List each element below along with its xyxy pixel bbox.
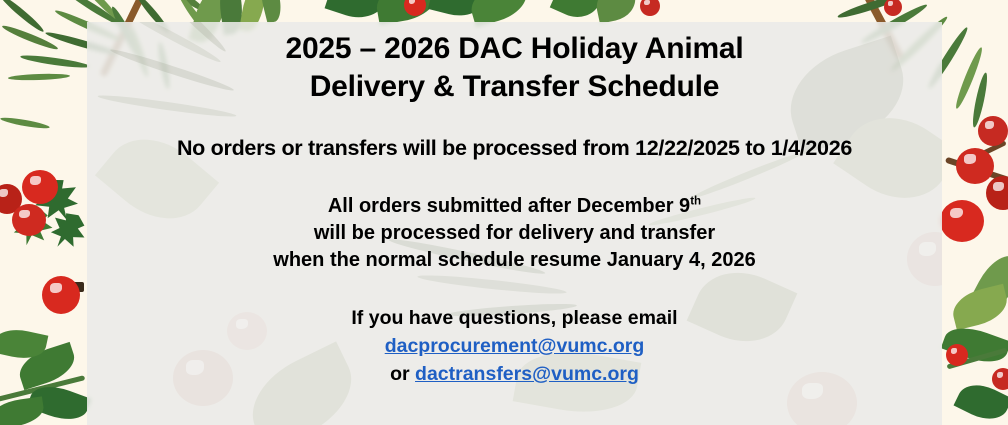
- red-berry: [946, 344, 968, 366]
- red-berry: [22, 170, 58, 204]
- red-berry: [12, 204, 46, 236]
- red-berry: [940, 200, 984, 242]
- contact-section: If you have questions, please email dacp…: [87, 304, 942, 388]
- ordinal-suffix: th: [690, 194, 701, 207]
- red-berry: [986, 176, 1008, 210]
- red-berry: [884, 0, 902, 16]
- pine-needle: [0, 116, 50, 131]
- holiday-schedule-poster: 2025 – 2026 DAC Holiday Animal Delivery …: [0, 0, 1008, 425]
- contact-email-primary-row: dacprocurement@vumc.org: [87, 332, 942, 360]
- pine-needle: [1, 23, 59, 52]
- red-berry: [978, 116, 1008, 146]
- eucalyptus-leaf: [0, 396, 46, 425]
- processing-instructions: All orders submitted after December 9th …: [87, 193, 942, 274]
- instruction-line-3: when the normal schedule resume January …: [87, 247, 942, 274]
- pine-needle: [20, 53, 90, 70]
- red-berry: [640, 0, 660, 16]
- contact-conjunction: or: [390, 363, 415, 385]
- red-berry: [956, 148, 994, 184]
- email-link-procurement[interactable]: dacprocurement@vumc.org: [385, 335, 645, 357]
- contact-prompt: If you have questions, please email: [87, 304, 942, 332]
- instruction-line-1-text: All orders submitted after December 9: [328, 195, 690, 217]
- eucalyptus-leaf: [949, 284, 1008, 331]
- eucalyptus-leaf: [593, 0, 639, 24]
- pine-needle: [8, 73, 70, 81]
- embargo-notice: No orders or transfers will be processed…: [87, 136, 942, 161]
- ornament-bauble: [42, 276, 80, 314]
- poster-text-content: 2025 – 2026 DAC Holiday Animal Delivery …: [87, 22, 942, 425]
- title-line-1: 2025 – 2026 DAC Holiday Animal: [87, 30, 942, 68]
- contact-email-secondary-row: or dactransfers@vumc.org: [87, 360, 942, 388]
- title-line-2: Delivery & Transfer Schedule: [87, 68, 942, 106]
- page-title: 2025 – 2026 DAC Holiday Animal Delivery …: [87, 22, 942, 106]
- instruction-line-2: will be processed for delivery and trans…: [87, 220, 942, 247]
- email-link-transfers[interactable]: dactransfers@vumc.org: [415, 363, 639, 385]
- instruction-line-1: All orders submitted after December 9th: [87, 193, 942, 220]
- red-berry: [992, 368, 1008, 390]
